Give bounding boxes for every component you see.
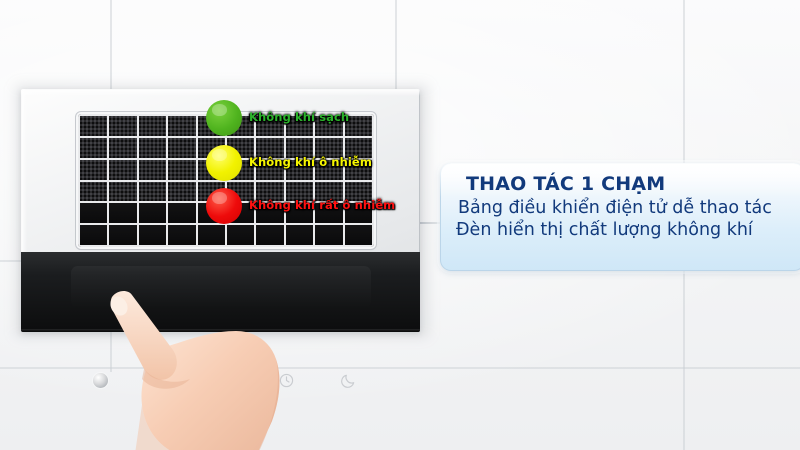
device-top-highlight (21, 89, 420, 96)
grille-cell (139, 116, 166, 136)
sleep-mode-button[interactable] (317, 361, 379, 399)
grille-cell (168, 138, 195, 158)
grille-cell (80, 160, 107, 180)
grille-cell (109, 182, 136, 202)
callout-line-2: Đèn hiển thị chất lượng không khí (456, 220, 791, 241)
indicator-label-polluted: Không khí ô nhiễm (249, 157, 372, 169)
scene-root: Không khí sạch Không khí ô nhiễm Không k… (0, 0, 800, 450)
wall-tile-line-vertical-2 (395, 0, 397, 90)
callout-line-1: Bảng điều khiển điện tử dễ thao tác (458, 198, 791, 219)
grille-cell (168, 182, 195, 202)
grille-cell (80, 225, 107, 245)
grille-cell (80, 203, 107, 223)
grille-cell (168, 160, 195, 180)
feature-callout-box: THAO TÁC 1 CHẠM Bảng điều khiển điện tử … (440, 163, 800, 271)
grille-cell (139, 138, 166, 158)
callout-text-block: THAO TÁC 1 CHẠM Bảng điều khiển điện tử … (458, 174, 791, 242)
grille-cell (286, 225, 313, 245)
grille-cell (168, 203, 195, 223)
grille-cell (168, 225, 195, 245)
grille-cell (80, 182, 107, 202)
indicator-led-clean-icon (206, 100, 242, 136)
indicator-row-very-polluted: Không khí rất ô nhiễm (206, 188, 395, 224)
grille-cell (315, 225, 342, 245)
grille-cell (109, 160, 136, 180)
indicator-row-polluted: Không khí ô nhiễm (206, 145, 372, 181)
indicator-led-polluted-icon (206, 145, 242, 181)
grille-cell (139, 182, 166, 202)
indicator-row-clean: Không khí sạch (206, 100, 349, 136)
grille-cell (256, 225, 283, 245)
grille-cell (139, 225, 166, 245)
indicator-label-clean: Không khí sạch (249, 112, 349, 124)
callout-title: THAO TÁC 1 CHẠM (466, 174, 791, 196)
grille-cell (168, 116, 195, 136)
grille-cell (227, 225, 254, 245)
grille-cell (139, 160, 166, 180)
grille-cell (109, 116, 136, 136)
grille-cell (109, 138, 136, 158)
grille-cell (109, 225, 136, 245)
indicator-led-very-polluted-icon (206, 188, 242, 224)
grille-cell (80, 116, 107, 136)
hand-pressing-power-button (104, 281, 294, 450)
indicator-label-very-polluted: Không khí rất ô nhiễm (249, 200, 395, 212)
grille-cell (139, 203, 166, 223)
grille-cell (345, 225, 372, 245)
moon-sleep-icon (340, 372, 357, 389)
grille-cell (198, 225, 225, 245)
grille-cell (80, 138, 107, 158)
grille-cell (109, 203, 136, 223)
